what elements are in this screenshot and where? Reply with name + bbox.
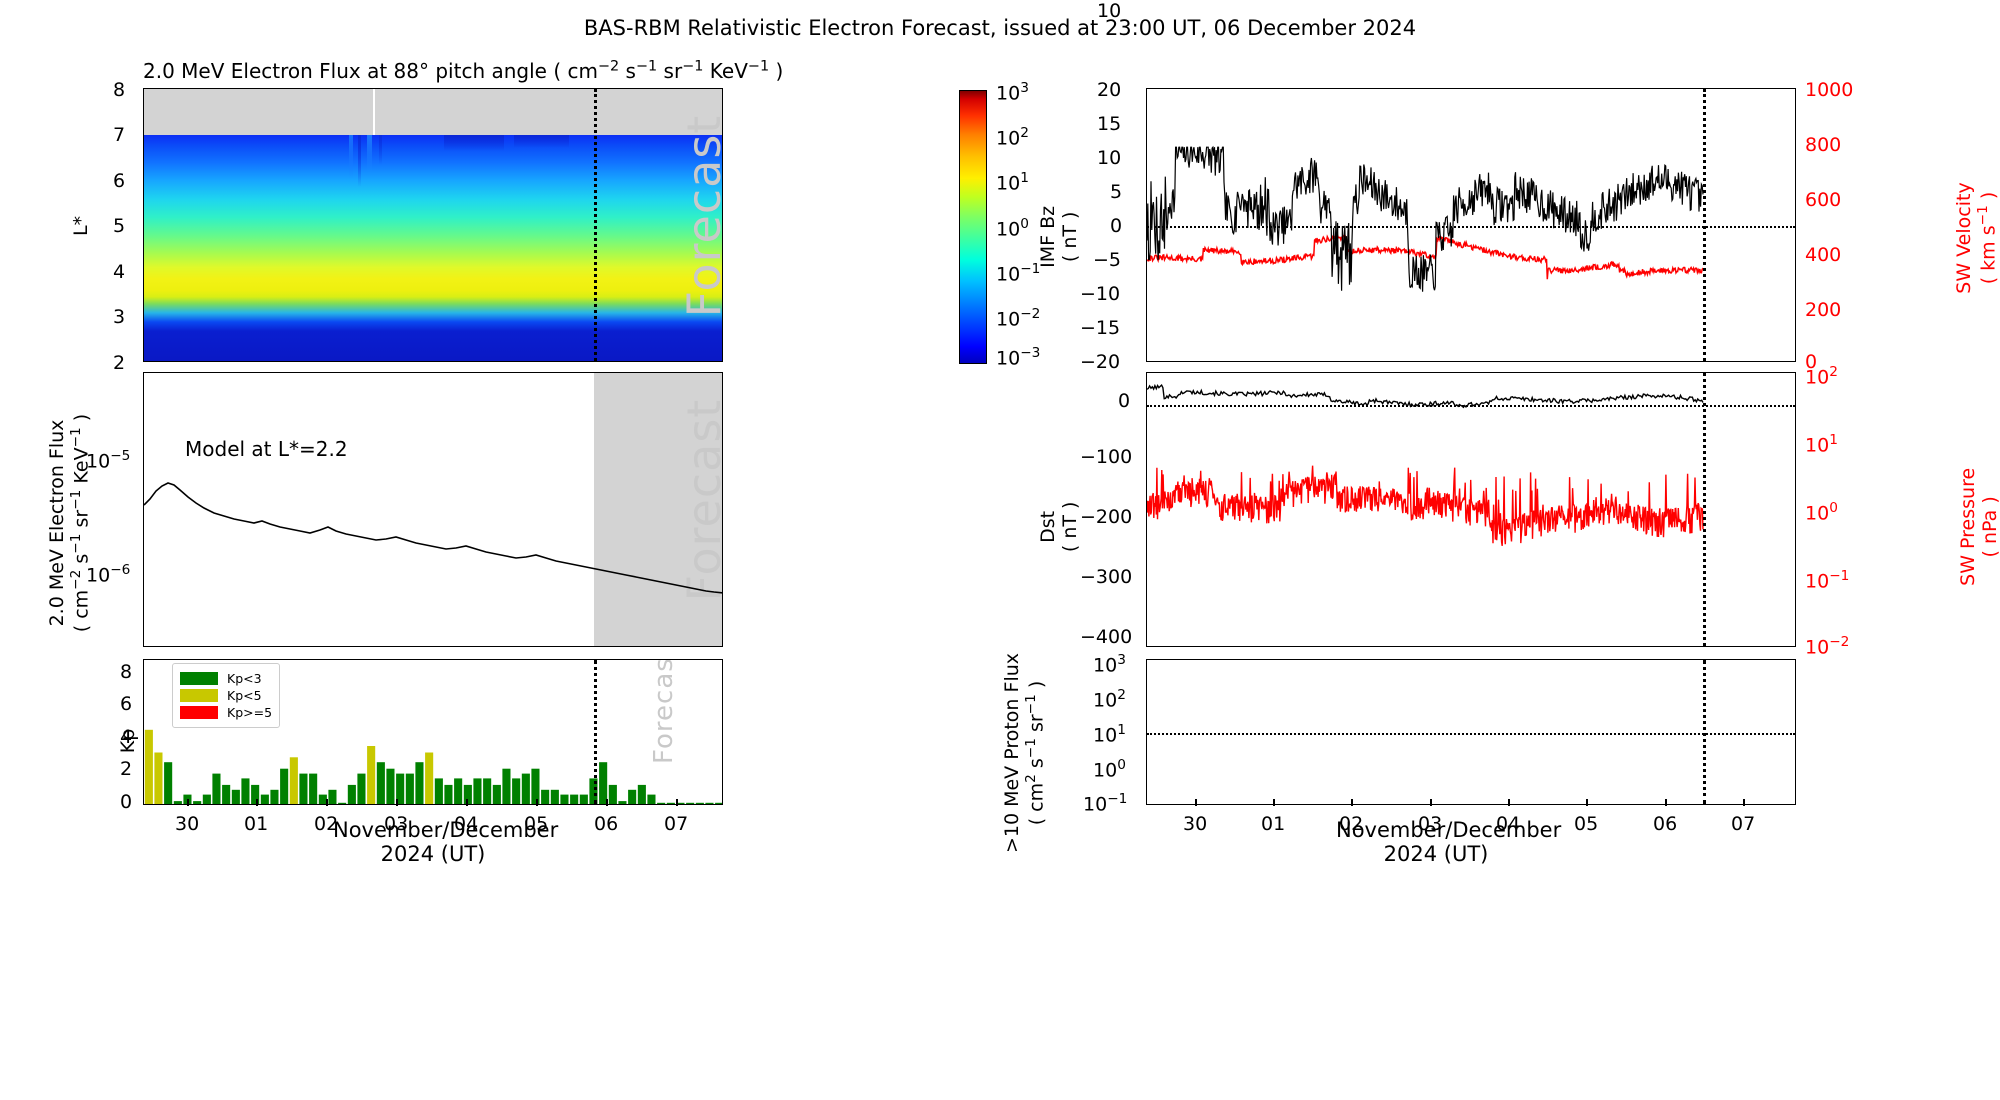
xtick-mark [1586, 799, 1588, 806]
ytick-swv-800: 800 [1805, 134, 1841, 156]
xtick-mark [256, 799, 258, 806]
ytick-swv-600: 600 [1805, 189, 1841, 211]
ylabel-imf: IMF Bz ( nT ) [1038, 152, 1082, 322]
ytick-imf-15: 15 [1097, 113, 1121, 135]
flux-streak [349, 135, 353, 179]
flux-map-title-main: 2.0 MeV Electron Flux at 88 [143, 59, 419, 83]
cbar-tick-1e3: 103 [996, 80, 1029, 104]
ylabel-model-flux-line1: 2.0 MeV Electron Flux [46, 420, 68, 627]
legend-label-kp-lt5: Kp<5 [227, 688, 262, 703]
ytick-dst-m200: −200 [1080, 506, 1132, 528]
ytick-proton-1e1: 101 [1093, 722, 1126, 746]
flux-streak [367, 135, 372, 173]
ytick-imf-m5: −5 [1093, 249, 1121, 271]
ytick-imf-m10: −10 [1080, 283, 1120, 305]
ytick-map-3: 3 [113, 306, 125, 328]
cbar-tick-1em1: 10−1 [996, 261, 1040, 285]
flux-streak [358, 135, 361, 187]
xtick-mark [1743, 799, 1745, 806]
xlabel-left-line2: 2024 (UT) [381, 842, 486, 866]
ylabel-proton: >10 MeV Proton Flux ( cm2 s−1 sr−1 ) [1002, 623, 1048, 883]
ytick-proton-1e0: 100 [1093, 757, 1126, 781]
ytick-map-5: 5 [113, 215, 125, 237]
xtick-mark [1351, 799, 1353, 806]
ytick-dst-m300: −300 [1080, 566, 1132, 588]
ylabel-imf-line2: ( nT ) [1059, 212, 1081, 263]
ylabel-sw-pressure: SW Pressure ( nPa ) [1958, 427, 2000, 627]
xtick-mark [466, 799, 468, 806]
xtick-mark [1665, 799, 1667, 806]
ylabel-model-flux: 2.0 MeV Electron Flux ( cm−2 s−1 sr−1 Ke… [47, 398, 93, 648]
ylabel-swv-line1: SW Velocity [1953, 182, 1975, 293]
flux-streak [379, 135, 382, 165]
xlabel-left: November/December 2024 (UT) [333, 818, 533, 866]
forecast-divider [1703, 373, 1706, 646]
forecast-watermark: Forecast [649, 659, 679, 795]
ytick-swp-1e1: 101 [1805, 432, 1838, 456]
cbar-tick-1e1: 101 [996, 170, 1029, 194]
cbar-tick-1em2: 10−2 [996, 306, 1040, 330]
threshold-line [1147, 733, 1795, 735]
model-flux-curve [144, 373, 723, 647]
ytick-imf-20: 20 [1097, 79, 1121, 101]
cbar-tick-1em3: 10−3 [996, 345, 1040, 369]
cbar-tick-1e0: 100 [996, 216, 1029, 240]
ytick-dst-0: 0 [1118, 390, 1130, 412]
xtick-mark [1195, 799, 1197, 806]
xtick-mark [536, 799, 538, 806]
xtick-30: 30 [1183, 813, 1207, 835]
ytick-swp-1em2: 10−2 [1805, 634, 1849, 658]
model-annotation: Model at L*=2.2 [185, 437, 348, 461]
ytick-imf-10b: 10 [1097, 147, 1121, 169]
xtick-mark [676, 799, 678, 806]
forecast-watermark: Forecast [677, 96, 723, 336]
forecast-divider [1703, 89, 1706, 361]
xtick-mark [1508, 799, 1510, 806]
ytick-map-2: 2 [113, 352, 125, 374]
ytick-imf-m15: −15 [1080, 317, 1120, 339]
legend-swatch-olive [180, 689, 218, 702]
ylabel-dst: Dst ( nT ) [1038, 452, 1082, 602]
xtick-30: 30 [175, 813, 199, 835]
xtick-06: 06 [1653, 813, 1677, 835]
ytick-imf-m20: −20 [1080, 351, 1120, 373]
ytick-swp-1e0: 100 [1805, 500, 1838, 524]
xlabel-right: November/December 2024 (UT) [1336, 818, 1536, 866]
figure-suptitle: BAS-RBM Relativistic Electron Forecast, … [0, 16, 2000, 40]
xlabel-right-line1: November/December [1336, 818, 1561, 842]
legend-swatch-red [180, 706, 218, 719]
ytick-imf-5: 5 [1110, 181, 1122, 203]
dst-panel[interactable] [1146, 372, 1796, 647]
ytick-swv-200: 200 [1805, 299, 1841, 321]
xlabel-left-line1: November/December [333, 818, 558, 842]
xtick-mark [326, 799, 328, 806]
xtick-mark [187, 799, 189, 806]
ylabel-imf-line1: IMF Bz [1037, 206, 1059, 268]
legend-item-kp-ge5: Kp>=5 [180, 705, 272, 720]
imf-bz-curve [1147, 89, 1796, 362]
ytick-map-7: 7 [113, 124, 125, 146]
ytick-swv-1000: 1000 [1805, 79, 1853, 101]
ytick-map-6: 6 [113, 170, 125, 192]
ylabel-proton-line1: >10 MeV Proton Flux [1001, 653, 1023, 853]
xtick-mark [1430, 799, 1432, 806]
flux-streak [514, 135, 569, 148]
xtick-mark [1273, 799, 1275, 806]
proton-flux-panel[interactable] [1146, 659, 1796, 805]
ytick-dst-m100: −100 [1080, 446, 1132, 468]
ylabel-dst-line1: Dst [1037, 511, 1059, 543]
ylabel-lstar: L* [71, 196, 93, 256]
model-flux-panel[interactable]: Forecast [143, 372, 723, 647]
figure-canvas: BAS-RBM Relativistic Electron Forecast, … [0, 0, 2000, 1100]
ylabel-swp-line2: ( nPa ) [1979, 496, 2000, 557]
legend-item-kp-lt5: Kp<5 [180, 688, 272, 703]
ytick-dst-m400: −400 [1080, 626, 1132, 648]
legend-label-kp-ge5: Kp>=5 [227, 705, 272, 720]
ylabel-sw-velocity: SW Velocity ( km s−1 ) [1954, 133, 2000, 343]
degree-symbol: ° [419, 59, 429, 83]
data-gap-line [373, 89, 375, 135]
legend-item-kp-lt3: Kp<3 [180, 671, 272, 686]
xtick-07: 07 [1731, 813, 1755, 835]
xtick-mark [396, 799, 398, 806]
legend-label-kp-lt3: Kp<3 [227, 671, 262, 686]
ytick-map-8: 8 [113, 79, 125, 101]
ytick-kp-8: 8 [120, 661, 132, 683]
kp-legend: Kp<3 Kp<5 Kp>=5 [172, 663, 280, 728]
ytick-imf-10: 10 [1097, 0, 1121, 22]
forecast-divider [594, 660, 597, 804]
flux-colorbar[interactable] [959, 90, 987, 364]
ylabel-kp: Kp [118, 711, 140, 771]
ytick-proton-1e2: 102 [1093, 687, 1126, 711]
cbar-tick-1e2: 102 [996, 125, 1029, 149]
dst-curve [1147, 373, 1796, 647]
xtick-05: 05 [1574, 813, 1598, 835]
electron-flux-heatmap[interactable]: Forecast [143, 88, 723, 362]
xlabel-right-line2: 2024 (UT) [1384, 842, 1489, 866]
ytick-kp-0: 0 [120, 791, 132, 813]
ytick-map-4: 4 [113, 261, 125, 283]
xtick-06: 06 [594, 813, 618, 835]
ylabel-dst-line2: ( nT ) [1059, 502, 1081, 553]
flux-streak [444, 135, 504, 151]
ytick-swp-1e2: 102 [1805, 364, 1838, 388]
ylabel-swp-line1: SW Pressure [1957, 468, 1979, 586]
flux-map-title-mid: pitch angle ( [435, 59, 561, 83]
ytick-swv-400: 400 [1805, 244, 1841, 266]
flux-map-title: 2.0 MeV Electron Flux at 88° pitch angle… [143, 58, 783, 83]
legend-swatch-green [180, 672, 218, 685]
forecast-divider [1703, 660, 1706, 804]
xtick-01: 01 [244, 813, 268, 835]
flux-map-title-close: ) [775, 59, 783, 83]
forecast-divider [594, 89, 597, 361]
ytick-imf-0: 0 [1110, 215, 1122, 237]
ytick-swp-1em1: 10−1 [1805, 568, 1849, 592]
ytick-proton-1e3: 103 [1093, 652, 1126, 676]
xtick-01: 01 [1261, 813, 1285, 835]
xtick-mark [606, 799, 608, 806]
xtick-07: 07 [664, 813, 688, 835]
imf-bz-panel[interactable] [1146, 88, 1796, 362]
ytick-proton-1em1: 10−1 [1083, 791, 1127, 815]
